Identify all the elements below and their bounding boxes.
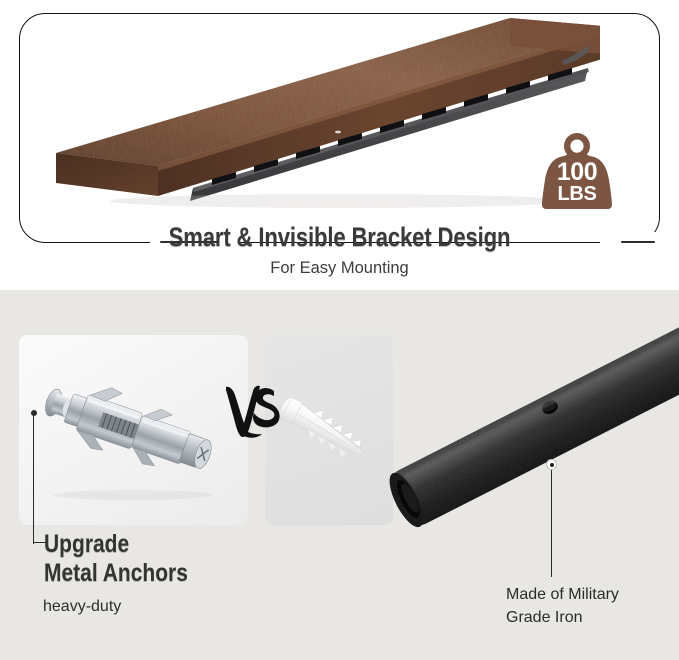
headline-text: Smart & Invisible Bracket Design	[61, 222, 618, 253]
pipe-label-line-1: Made of Military	[506, 583, 619, 606]
top-section: 100 LBS Smart & Invisible Bracket Design…	[0, 0, 679, 290]
weight-unit: LBS	[538, 185, 616, 205]
metal-anchor-photo	[19, 335, 248, 525]
anchors-callout-subtitle: heavy-duty	[43, 598, 121, 616]
infographic-stage: 100 LBS Smart & Invisible Bracket Design…	[0, 0, 679, 660]
anchors-title-line-2: Metal Anchors	[44, 559, 188, 588]
versus-icon	[222, 382, 282, 444]
vs-brushstroke-icon	[222, 382, 282, 444]
shelf-svg	[40, 5, 600, 210]
pipe-callout-marker	[546, 459, 557, 470]
floating-shelf-illustration	[40, 5, 600, 210]
weight-badge-text: 100 LBS	[538, 160, 616, 204]
iron-pipe-illustration	[370, 290, 679, 590]
weight-number: 100	[538, 160, 616, 185]
pipe-label-line-2: Grade Iron	[506, 606, 619, 629]
pipe-svg	[370, 290, 679, 590]
pipe-callout-label: Made of Military Grade Iron	[506, 583, 619, 629]
anchors-title-line-1: Upgrade	[44, 530, 188, 559]
pipe-callout-leader	[551, 470, 552, 577]
weight-capacity-badge: 100 LBS	[538, 130, 616, 212]
anchor-callout-leader-vertical	[33, 416, 34, 544]
headline-dash-right	[621, 241, 655, 243]
subheadline-text: For Easy Mounting	[0, 259, 679, 278]
metal-anchor-illustration	[19, 335, 248, 525]
anchors-callout-title: Upgrade Metal Anchors	[44, 530, 188, 588]
